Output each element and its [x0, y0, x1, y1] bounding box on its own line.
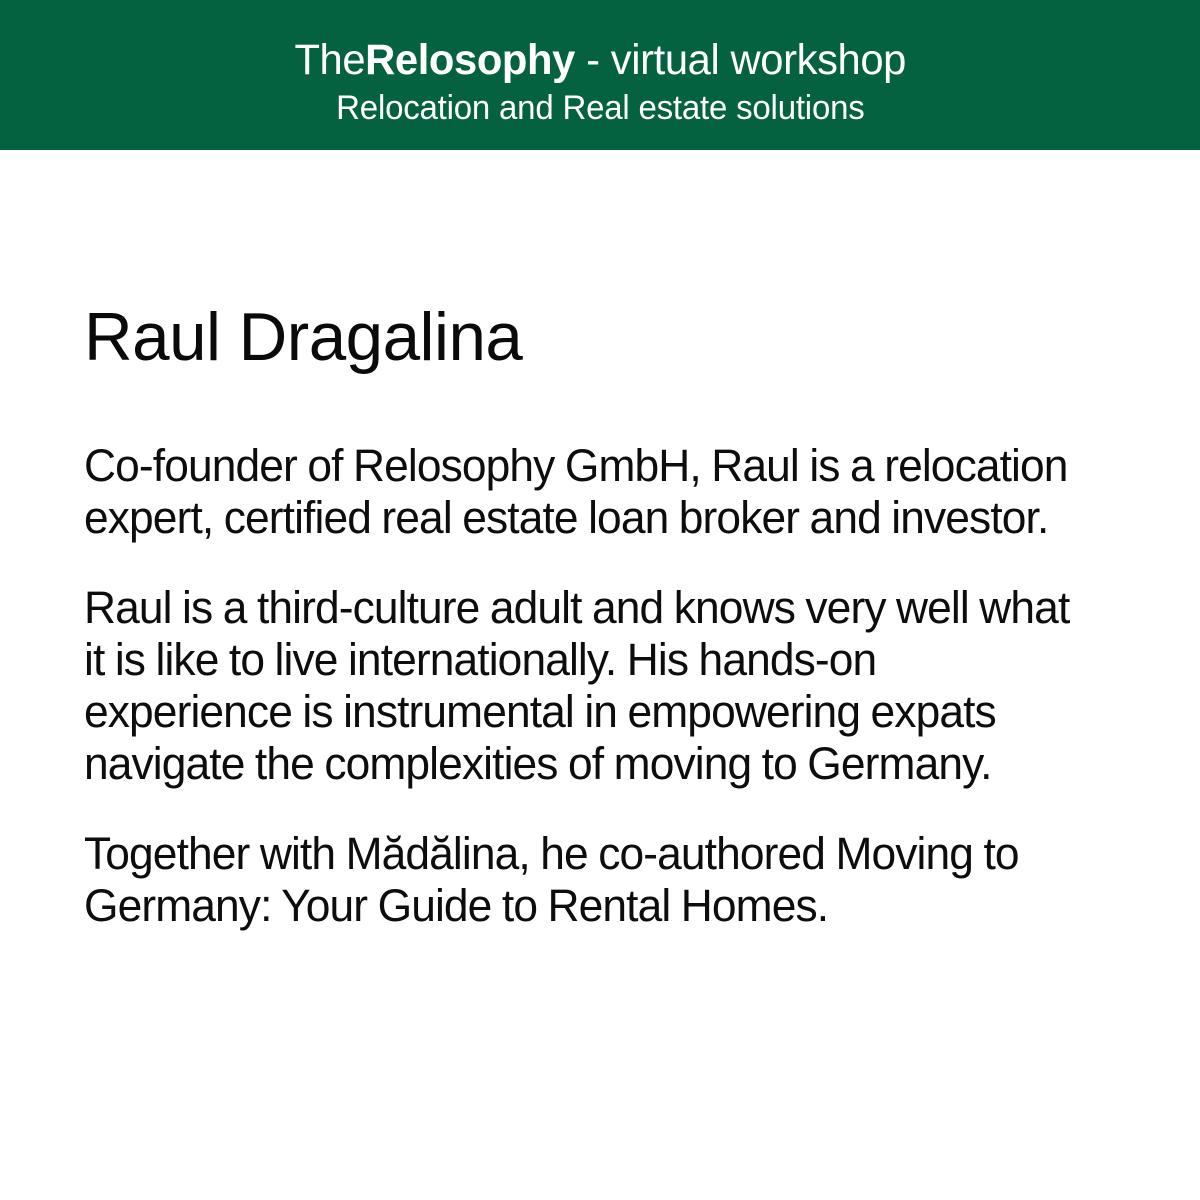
- workshop-title-suffix: - virtual workshop: [575, 36, 906, 84]
- workshop-title-prefix: The: [294, 36, 365, 84]
- slide-root: TheRelosophy - virtual workshop Relocati…: [0, 0, 1200, 1200]
- workshop-subtitle: Relocation and Real estate solutions: [336, 87, 864, 129]
- speaker-name: Raul Dragalina: [84, 300, 1094, 374]
- header-banner: TheRelosophy - virtual workshop Relocati…: [0, 0, 1200, 150]
- bio-paragraph: Raul is a third-culture adult and knows …: [84, 582, 1089, 790]
- workshop-title: TheRelosophy - virtual workshop: [294, 34, 906, 86]
- bio-paragraph: Co-founder of Relosophy GmbH, Raul is a …: [84, 440, 1089, 544]
- brand-name: Relosophy: [365, 36, 575, 84]
- bio-paragraph: Together with Mădălina, he co-authored M…: [84, 828, 1089, 932]
- content-area: Raul Dragalina Co-founder of Relosophy G…: [84, 300, 1104, 932]
- speaker-bio: Co-founder of Relosophy GmbH, Raul is a …: [84, 440, 1104, 932]
